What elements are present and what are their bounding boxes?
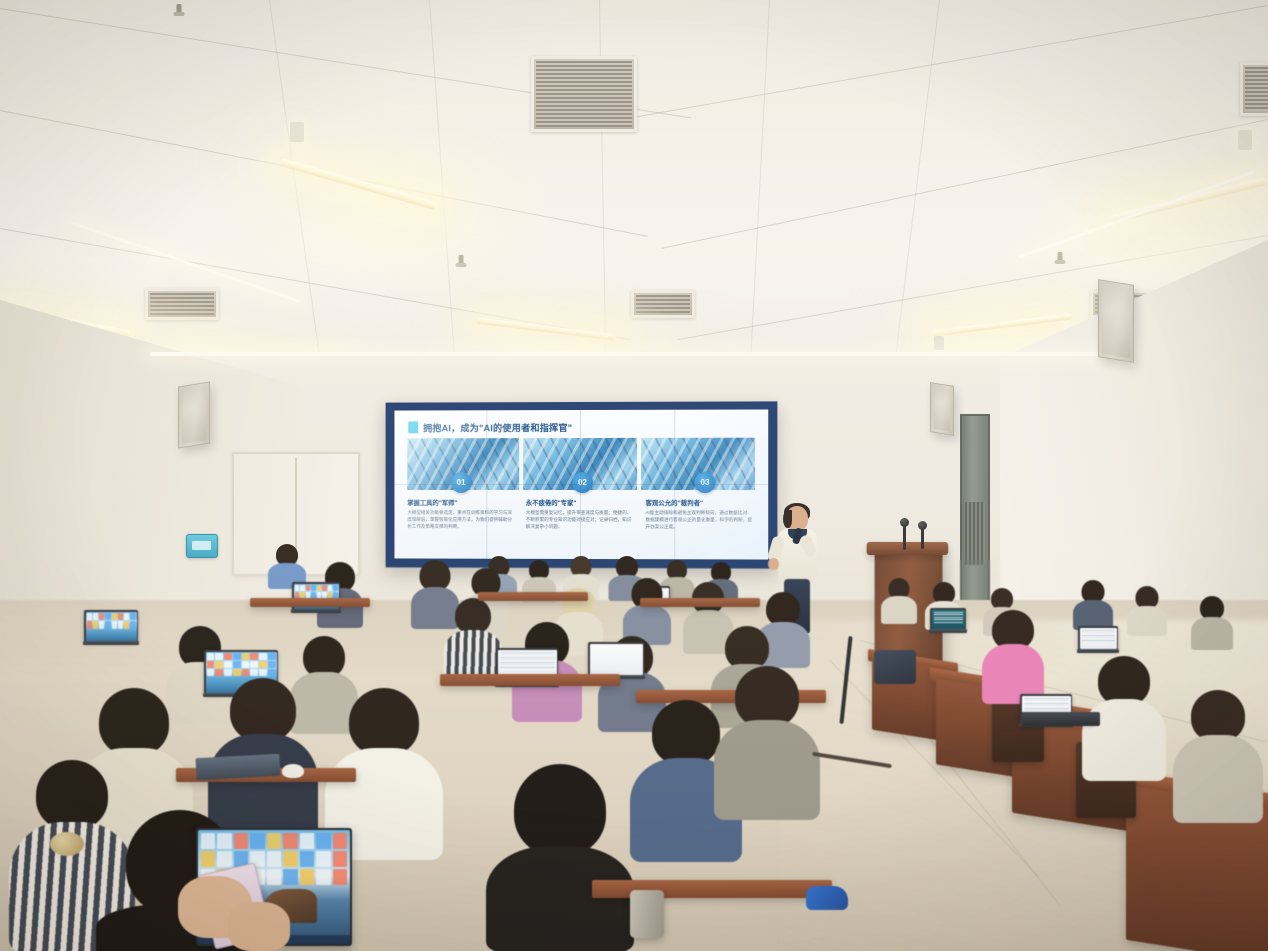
led-video-wall[interactable]: 拥抱AI，成为"AI的使用者和指挥官" 01 02 03 掌握工具的"军师" 大… [386,401,778,568]
blue-wall-sign [186,534,218,558]
keyboard[interactable] [1022,712,1100,726]
desktop-icons [207,653,276,677]
slide-badge-01: 01 [451,472,472,493]
slide-col1-heading: 掌握工具的"军师" [407,498,515,507]
slide-columns: 掌握工具的"军师" 大模型相关功能要选定，重点在训练资料的学习与深度理解层，掌握… [407,498,755,554]
screen-content [1024,698,1069,713]
desk [478,592,588,601]
slide-column-1: 掌握工具的"军师" 大模型相关功能要选定，重点在训练资料的学习与深度理解层，掌握… [407,498,515,553]
desk [440,674,620,686]
wall-speaker [1098,279,1134,363]
person-head [766,592,800,626]
slide-accent-square [408,421,418,433]
presenter-hair-side [783,510,792,528]
person-head [514,764,606,856]
hair-tie [50,832,84,856]
presenter-hand-left [768,558,779,570]
wall-speaker [930,382,954,436]
person-head [455,598,491,634]
laptop[interactable] [930,608,966,630]
desktop-icons [87,613,136,630]
podium-microphone [918,521,927,530]
green-side-door[interactable] [960,414,990,604]
laptop-lid [588,642,644,676]
laptop-keyboard[interactable] [83,641,139,645]
ceiling-air-vent [531,56,637,132]
fire-sprinkler [455,255,467,269]
fluorescent-tube-light [932,313,1072,336]
slide-title-row: 拥抱AI，成为"AI的使用者和指挥官" [408,420,572,434]
person-head [99,688,169,756]
ceiling-air-vent [1240,62,1268,116]
slide-col1-body: 大模型相关功能要选定，重点在训练资料的学习与深度理解层，掌握智能化应用方法，为我… [407,510,515,530]
podium-top-surface [867,542,949,555]
desktop-icons [295,585,338,600]
laptop-keyboard[interactable] [291,609,341,613]
person-head [230,678,296,742]
fluorescent-tube-light [280,158,436,210]
slide-title: 拥抱AI，成为"AI的使用者和指挥官" [423,420,572,434]
laptop-keyboard[interactable] [1077,649,1119,653]
person-torso [444,630,502,680]
screen-content [934,612,963,625]
laptop-screen[interactable] [86,612,137,641]
laptop-lid [84,610,138,642]
audience-member-foreground [500,764,620,951]
audience-member-gray [724,666,810,818]
laptop-keyboard[interactable] [929,629,967,633]
person-head [735,666,799,728]
audience-member-striped [448,598,498,674]
screen-content [1082,630,1115,643]
fluorescent-tube-light [476,317,616,340]
person-head [652,700,720,766]
slide-screen: 拥抱AI，成为"AI的使用者和指挥官" 01 02 03 掌握工具的"军师" 大… [394,409,768,559]
slide-col3-body: AI能主动排除和避免主观判断倾向，通过数据比对、数据建模进行客观公正的量化衡量，… [645,510,755,531]
wall-speaker [178,381,210,448]
photo-scene: 拥抱AI，成为"AI的使用者和指挥官" 01 02 03 掌握工具的"军师" 大… [0,0,1268,951]
sneaker [806,886,848,910]
person-torso [714,720,820,820]
slide-badge-02: 02 [572,472,593,493]
laptop-lid [1078,626,1118,650]
desk [592,880,832,898]
podium-microphone [900,518,909,527]
fire-sprinkler [1055,252,1065,264]
ceiling-air-vent [145,288,219,320]
slide-badge-03: 03 [694,472,715,493]
hand [228,902,290,951]
person-torso [1191,617,1233,650]
audience-member [1194,596,1230,650]
audience-member [884,578,914,624]
screen-content [500,652,555,670]
audience-member [1130,586,1164,636]
person-torso [1127,606,1167,636]
laptop[interactable] [588,642,644,676]
audience-member [626,578,668,640]
person-head [349,688,419,756]
laptop[interactable] [84,610,138,642]
desk [250,598,370,607]
slide-badge-row: 01 02 03 [407,472,755,494]
slide-column-3: 客观公允的"裁判者" AI能主动排除和避免主观判断倾向，通过数据比对、数据建模进… [645,498,755,553]
slide-col2-body: 大模型需重复记忆，提升审查速度与质量；便捷的、不断积累的专业知识功能对接应对；记… [526,510,635,531]
podium-microphone-stand [903,524,906,550]
slide-col2-heading: 永不疲倦的"专家" [526,498,635,507]
notebook [195,754,280,780]
audience-member [1076,580,1110,630]
laptop-screen[interactable] [590,644,643,675]
person-head [36,760,108,830]
laptop-lid [930,608,966,630]
person-torso [1173,735,1263,823]
ceiling-air-vent [631,290,695,318]
computer-mouse[interactable] [282,764,304,778]
audience-member-pink [984,610,1042,702]
bag [874,650,916,684]
slide-column-2: 永不疲倦的"专家" 大模型需重复记忆，提升审查速度与质量；便捷的、不断积累的专业… [526,498,635,553]
fire-sprinkler [172,4,186,20]
podium-microphone-stand [921,527,924,549]
laptop-screen[interactable] [1080,628,1117,649]
laptop-screen[interactable] [932,610,965,629]
person-torso [881,596,917,624]
person-torso [486,846,634,951]
thermos-bottle [630,890,664,938]
slide-col3-heading: 客观公允的"裁判者" [645,498,755,507]
desk [640,598,760,607]
audience-member [1180,690,1256,820]
laptop[interactable] [1078,626,1118,650]
